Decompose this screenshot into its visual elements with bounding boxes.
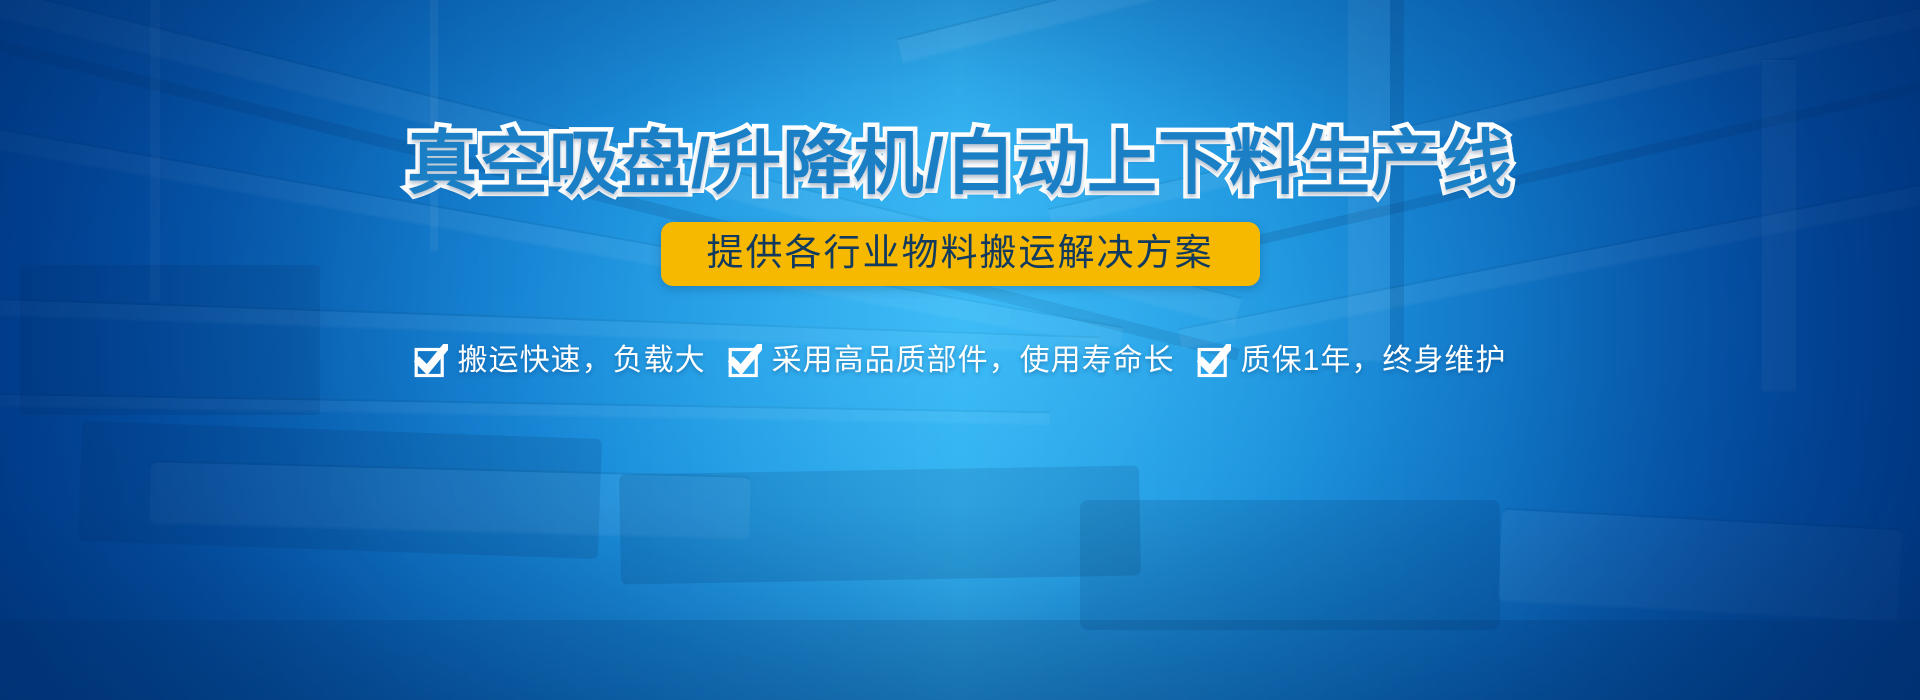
- banner-title: 真空吸盘/升降机/自动上下料生产线: [407, 128, 1513, 198]
- checkbox-check-icon: [728, 344, 762, 378]
- feature-item: 质保1年，终身维护: [1197, 344, 1507, 378]
- feature-label: 采用高品质部件，使用寿命长: [772, 346, 1175, 376]
- feature-item: 采用高品质部件，使用寿命长: [728, 344, 1175, 378]
- banner-content: 真空吸盘/升降机/自动上下料生产线 提供各行业物料搬运解决方案 搬运快速，负载大…: [0, 0, 1920, 700]
- feature-list: 搬运快速，负载大 采用高品质部件，使用寿命长 质保1年，终身维护: [414, 344, 1507, 378]
- feature-label: 搬运快速，负载大: [458, 346, 706, 376]
- checkbox-check-icon: [1197, 344, 1231, 378]
- checkbox-check-icon: [414, 344, 448, 378]
- hero-banner: 真空吸盘/升降机/自动上下料生产线 提供各行业物料搬运解决方案 搬运快速，负载大…: [0, 0, 1920, 700]
- feature-label: 质保1年，终身维护: [1241, 346, 1507, 376]
- feature-item: 搬运快速，负载大: [414, 344, 706, 378]
- banner-subtitle-pill: 提供各行业物料搬运解决方案: [661, 222, 1260, 286]
